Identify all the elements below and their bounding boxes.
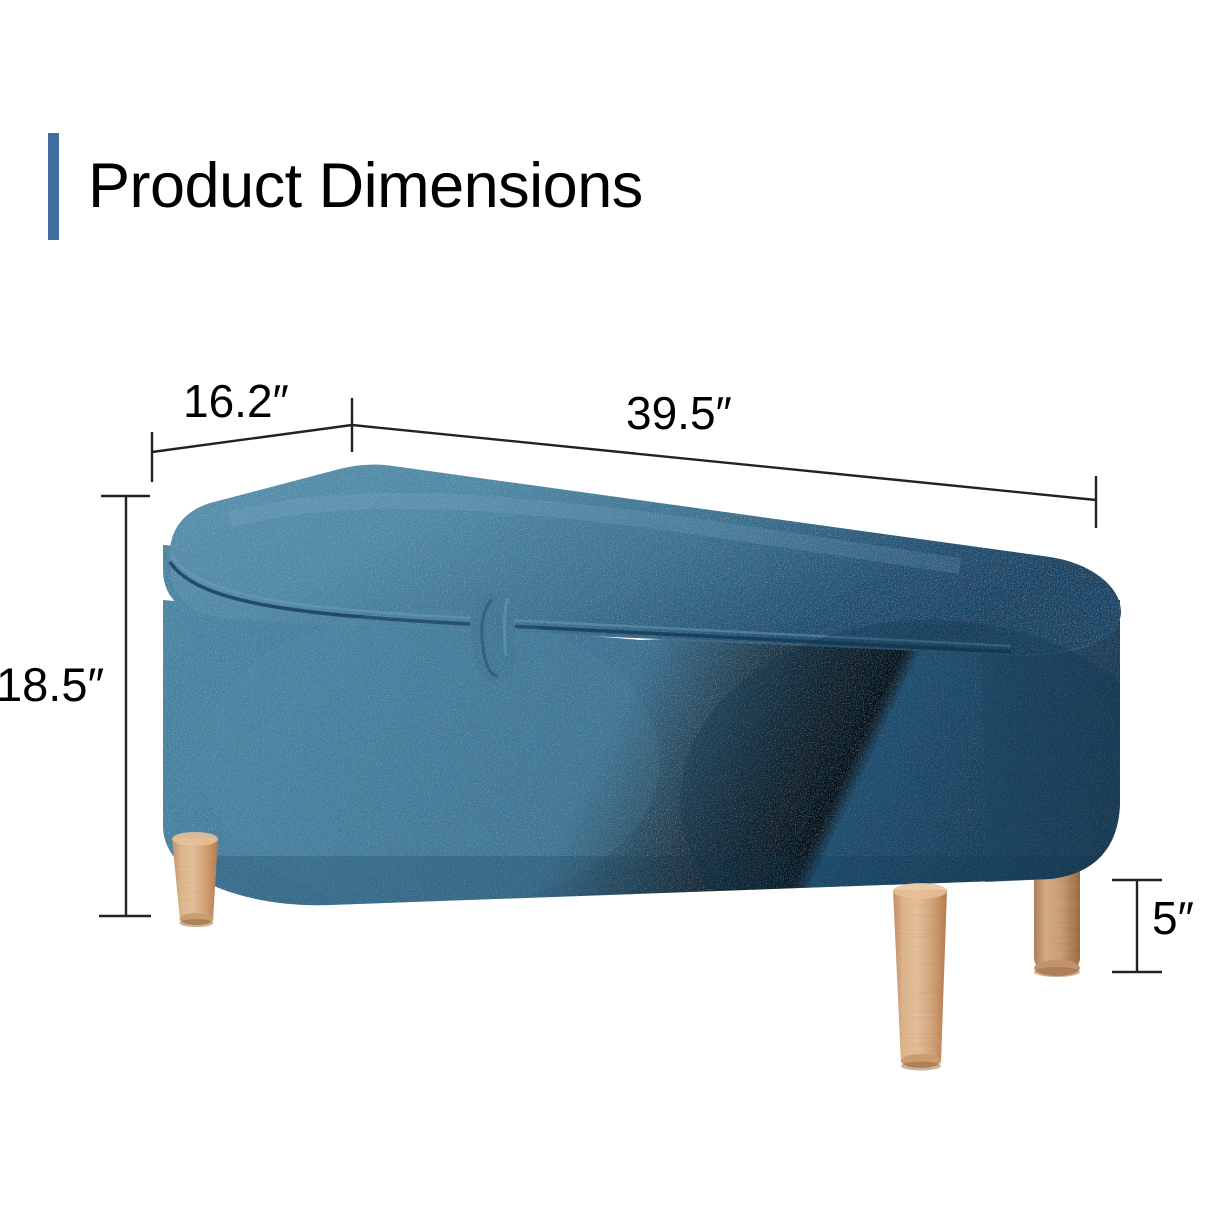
dimension-label-height: 18.5″ [0, 661, 104, 708]
dimension-label-depth: 16.2″ [183, 378, 289, 424]
product-illustration [0, 0, 1208, 1208]
leg-front-left [172, 832, 218, 927]
leg-front-right [893, 883, 947, 1071]
dimension-label-width: 39.5″ [626, 390, 732, 436]
dimension-label-leg-height: 5″ [1152, 895, 1194, 941]
bench-body [163, 465, 1180, 980]
